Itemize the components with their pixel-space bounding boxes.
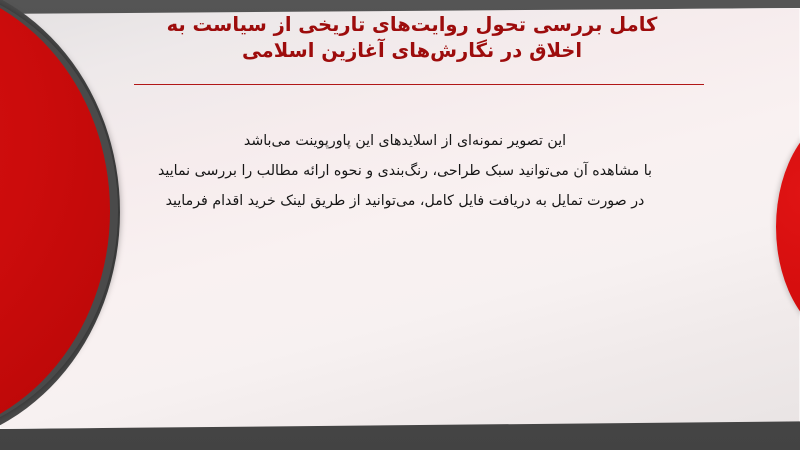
presentation-slide: کامل بررسی تحول روایت‌های تاریخی از سیاس… (0, 0, 800, 450)
slide-canvas: کامل بررسی تحول روایت‌های تاریخی از سیاس… (0, 8, 800, 429)
slide-body-line-2: با مشاهده آن می‌توانید سبک طراحی، رنگ‌بن… (110, 156, 700, 186)
slide-title-line-1: کامل بررسی تحول روایت‌های تاریخی از سیاس… (122, 12, 702, 38)
slide-title: کامل بررسی تحول روایت‌های تاریخی از سیاس… (122, 12, 702, 64)
slide-content: کامل بررسی تحول روایت‌های تاریخی از سیاس… (0, 8, 800, 429)
slide-body-text: این تصویر نمونه‌ای از اسلایدهای این پاور… (110, 126, 700, 216)
title-underline-rule (134, 84, 704, 85)
slide-title-line-2: اخلاق در نگارش‌های آغازین اسلامی (122, 38, 702, 64)
slide-body-line-1: این تصویر نمونه‌ای از اسلایدهای این پاور… (110, 126, 700, 156)
slide-body-line-3: در صورت تمایل به دریافت فایل کامل، می‌تو… (110, 186, 700, 216)
